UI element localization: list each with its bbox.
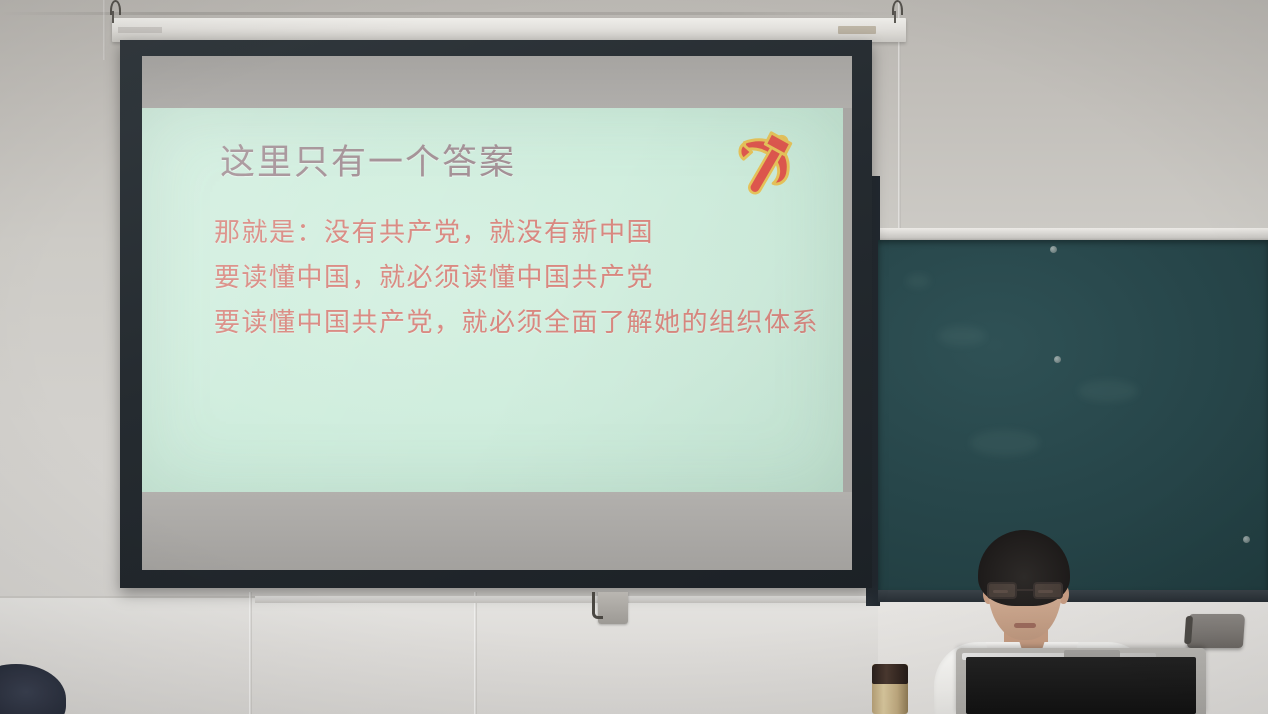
- slide-body-line: 要读懂中国，就必须读懂中国共产党: [214, 257, 819, 294]
- chalk-smudge: [938, 326, 986, 346]
- screen-pull-tab[interactable]: [598, 592, 628, 624]
- wall-seam-left: [103, 0, 106, 60]
- eyeglass-lens-left: [987, 582, 1017, 599]
- letterbox-bar-top: [142, 56, 852, 108]
- roller-brand-label: [838, 26, 876, 34]
- chalk-smudge: [1078, 380, 1138, 402]
- blackboard-screw-icon: [1054, 356, 1061, 363]
- lecturer-mouth: [1014, 623, 1036, 628]
- mounting-hook-right-icon: [890, 0, 900, 26]
- ceiling-seam-line: [0, 12, 900, 15]
- mounting-hook-left-icon: [108, 0, 118, 26]
- wall-panel-ledge: [255, 596, 875, 603]
- roller-endcap-left: [118, 27, 162, 33]
- hammer-and-sickle-emblem: [729, 122, 803, 196]
- slide-body-text: 那就是：没有共产党，就没有新中国 要读懂中国，就必须读懂中国共产党 要读懂中国共…: [214, 212, 819, 339]
- projection-screen-roller-bar: [112, 18, 906, 42]
- letterbox-bar-bottom: [142, 492, 852, 570]
- eyeglasses-icon: [985, 582, 1067, 599]
- classroom-scene: 这里只有一个答案: [0, 0, 1268, 714]
- wall-panel-seam-2: [474, 592, 477, 714]
- projection-screen[interactable]: 这里只有一个答案: [120, 40, 872, 588]
- blackboard-screw-icon: [1243, 536, 1250, 543]
- projection-screen-surface: 这里只有一个答案: [142, 56, 852, 570]
- presentation-slide: 这里只有一个答案: [142, 108, 843, 492]
- chalk-smudge: [906, 274, 930, 288]
- slide-body-line: 那就是：没有共产党，就没有新中国: [214, 212, 819, 249]
- eyeglass-lens-right: [1033, 582, 1063, 599]
- monitor-screen: [966, 657, 1196, 714]
- thermos-cap[interactable]: [872, 664, 908, 684]
- chalkboard-eraser[interactable]: [1187, 614, 1245, 648]
- slide-title: 这里只有一个答案: [220, 134, 516, 185]
- wall-panel-seam-1: [249, 592, 252, 714]
- eyeglass-bridge: [1017, 589, 1033, 591]
- computer-monitor[interactable]: [956, 648, 1206, 714]
- blackboard-screw-icon: [1050, 246, 1057, 253]
- chalk-smudge: [970, 430, 1040, 456]
- slide-body-line: 要读懂中国共产党，就必须全面了解她的组织体系: [214, 302, 819, 339]
- lower-wall-panel: [0, 596, 960, 714]
